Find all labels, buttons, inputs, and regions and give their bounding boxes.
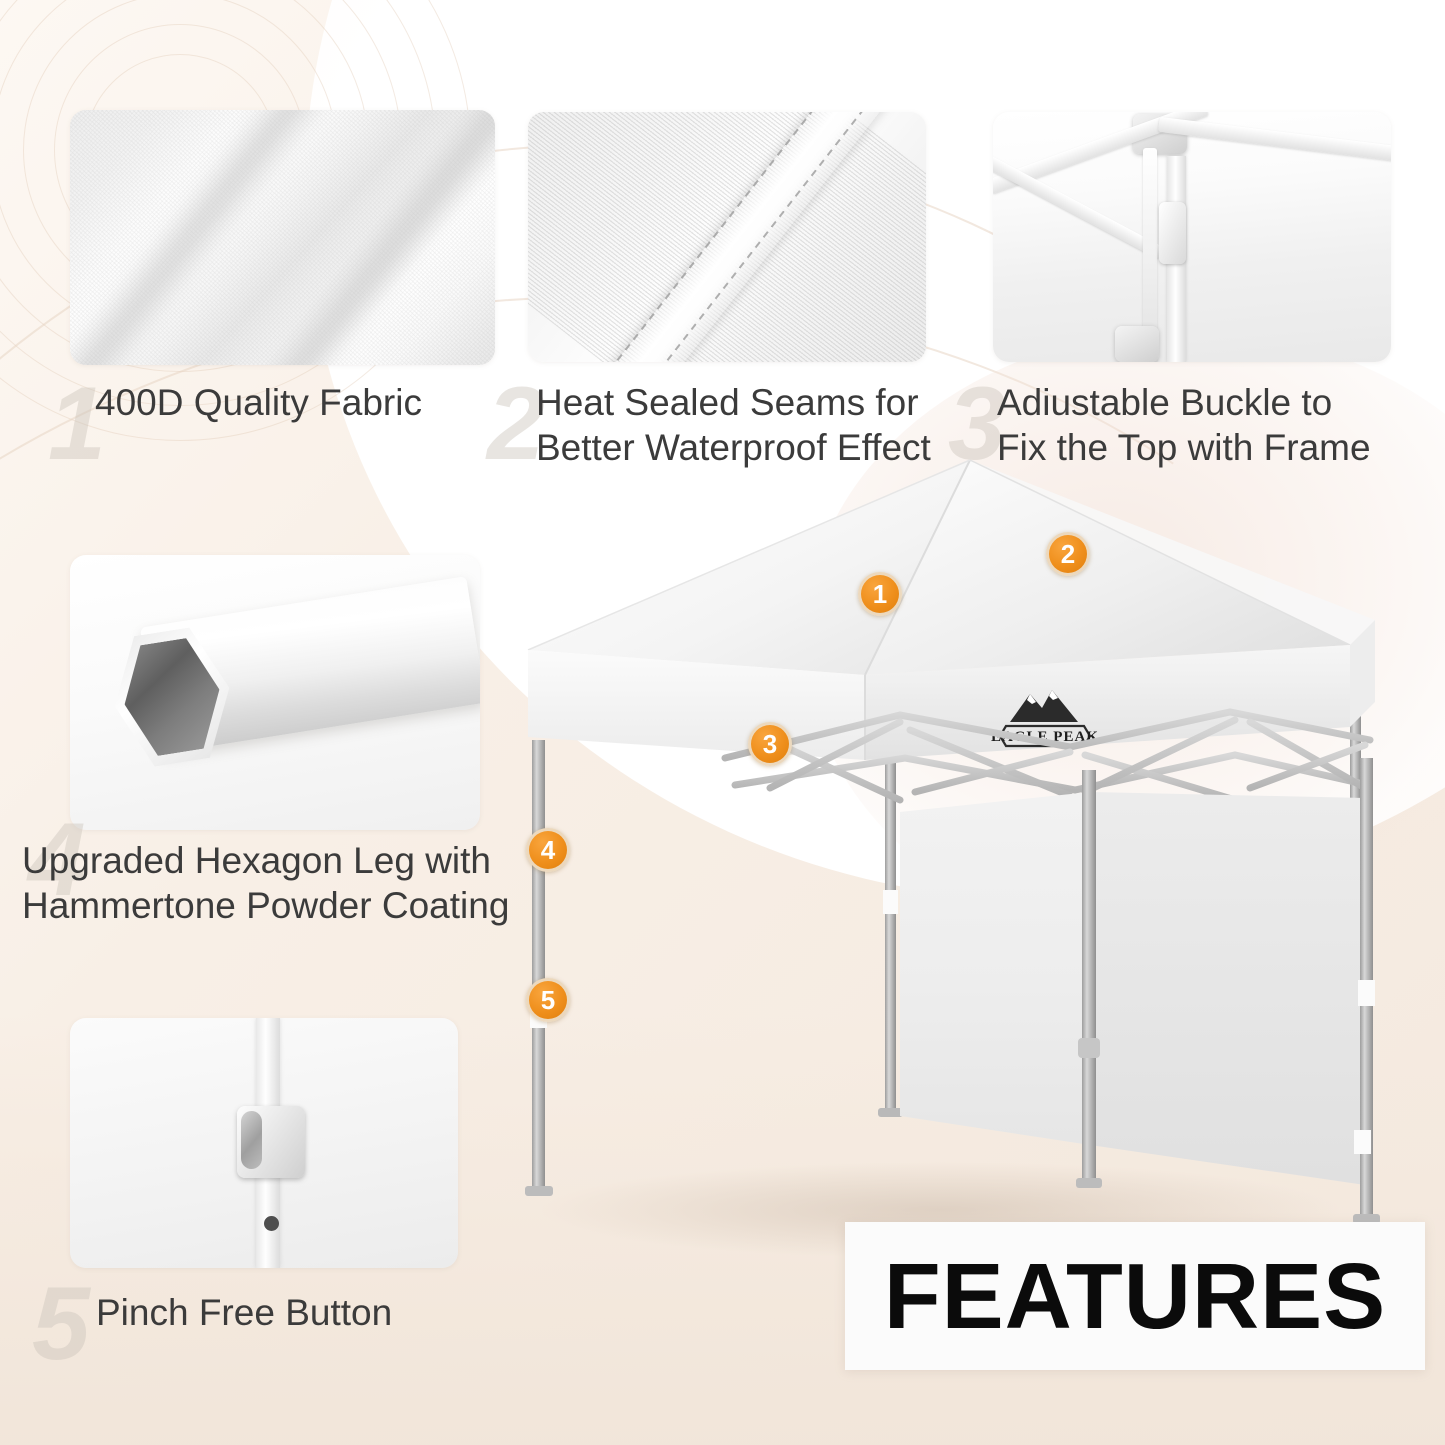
pinch-free-button-photo: [70, 1018, 458, 1268]
leg-front-center: [1082, 770, 1096, 1182]
feature-caption-1: 400D Quality Fabric: [95, 380, 422, 425]
features-banner: FEATURES: [845, 1222, 1425, 1370]
callout-badge-4[interactable]: 4: [526, 828, 570, 872]
sidewall-left-panel: [900, 792, 1090, 1145]
buckle-clip: [1159, 202, 1186, 264]
frame-bar-right: [1158, 117, 1391, 162]
leg-front-right-slider-2: [1354, 1130, 1371, 1154]
canopy-roof: [528, 460, 1375, 675]
leg-back-left-slider: [883, 890, 898, 914]
fabric-closeup-photo: [70, 110, 495, 365]
callout-badge-2[interactable]: 2: [1046, 532, 1090, 576]
callout-badge-5[interactable]: 5: [526, 978, 570, 1022]
leg-adjust-hole: [264, 1216, 279, 1231]
frame-bar-diagonal: [993, 154, 1164, 259]
feature-caption-4: Upgraded Hexagon Leg with Hammertone Pow…: [22, 838, 509, 928]
heat-sealed-seam-photo: [528, 112, 926, 362]
features-infographic: 1 400D Quality Fabric 2 Heat Sealed Seam…: [0, 0, 1445, 1445]
sidewall-right-panel: [1090, 792, 1365, 1185]
feature-caption-5: Pinch Free Button: [96, 1290, 392, 1335]
callout-badge-1[interactable]: 1: [858, 572, 902, 616]
callout-badge-3[interactable]: 3: [748, 722, 792, 766]
leg-front-left: [532, 740, 545, 1190]
leg-front-right-slider: [1358, 980, 1375, 1006]
leg-front-left-foot: [525, 1186, 553, 1196]
canopy-tent-illustration: EAGLE PEAK: [470, 440, 1445, 1260]
tent-sidewalls: [900, 792, 1365, 1185]
hexagon-leg-photo: [70, 555, 480, 830]
ghost-number-5: 5: [32, 1272, 88, 1376]
pinch-free-button-thumbpad: [241, 1111, 262, 1169]
frame-corner-joint: [1115, 326, 1159, 362]
leg-front-center-foot: [1076, 1178, 1102, 1188]
features-banner-title: FEATURES: [884, 1243, 1386, 1350]
adjustable-buckle-photo: [993, 112, 1391, 362]
leg-front-center-button: [1078, 1038, 1100, 1058]
leg-back-left-foot: [878, 1108, 903, 1117]
